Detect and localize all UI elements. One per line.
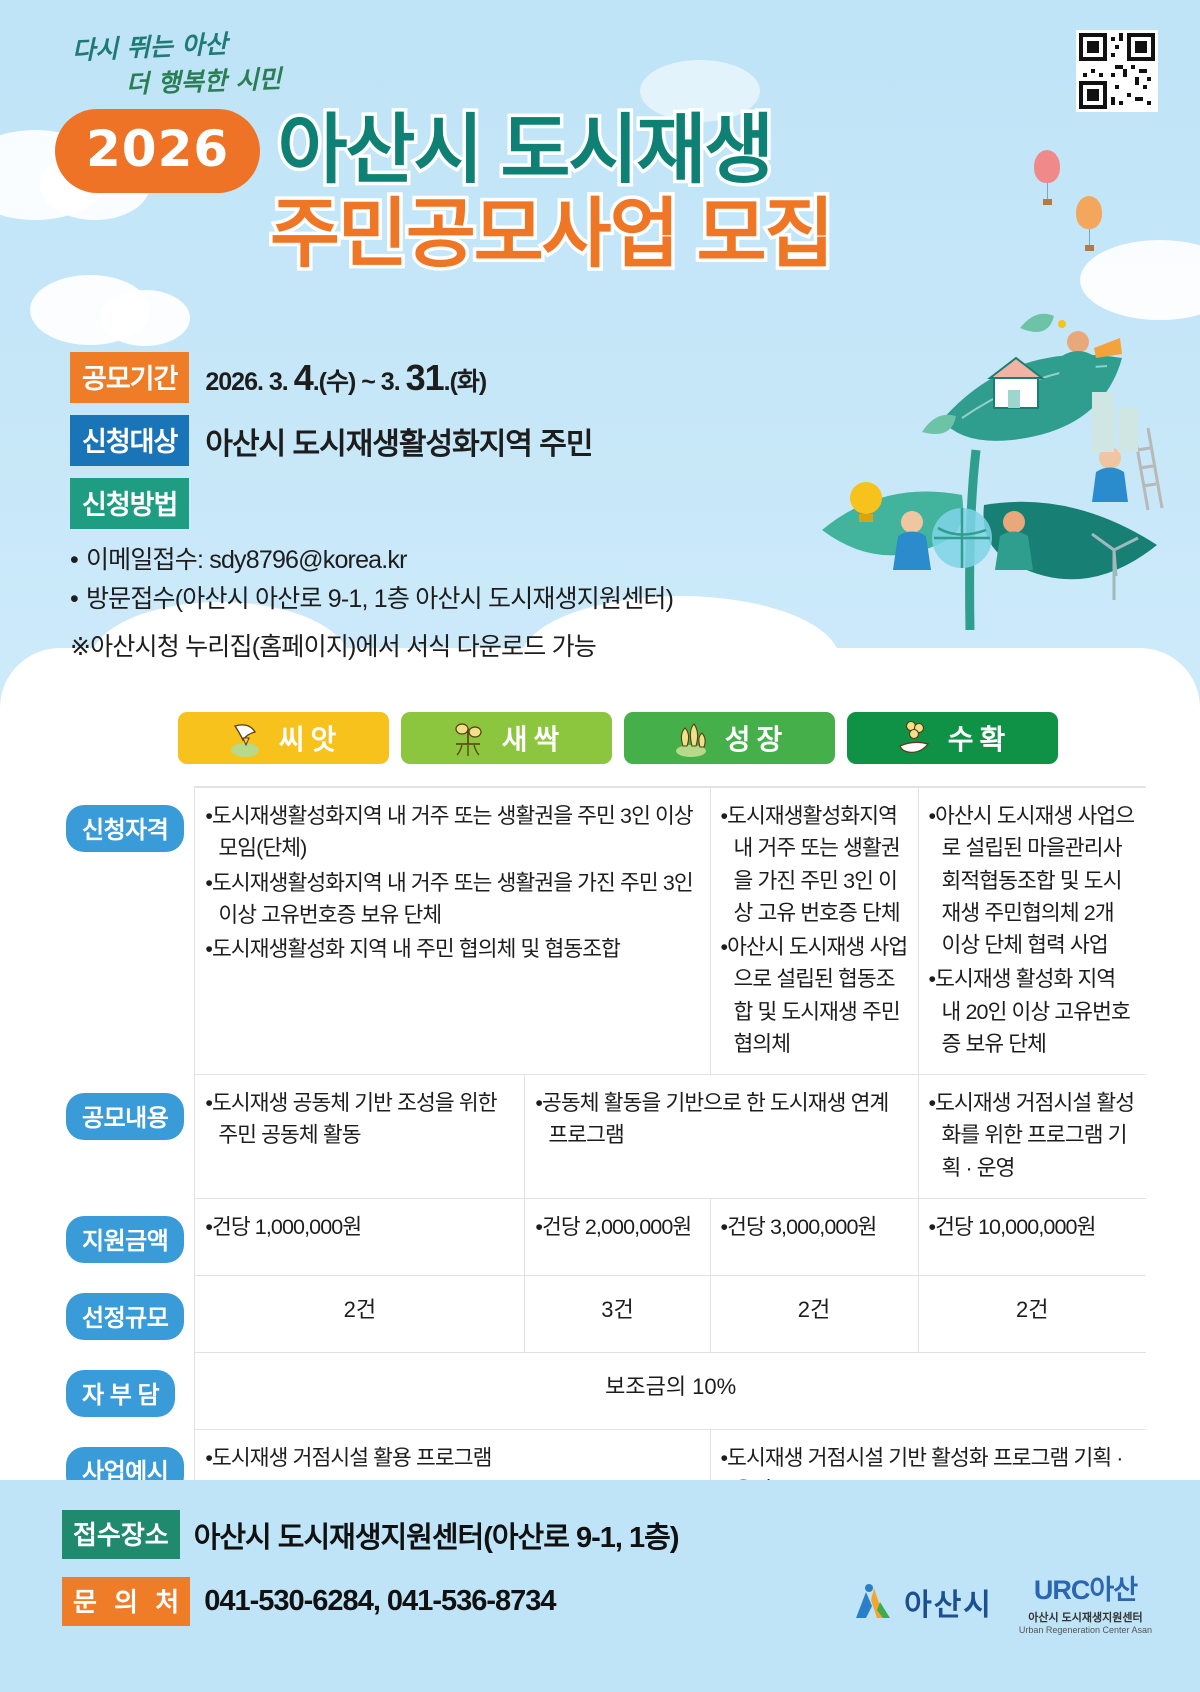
cell-item: 도시재생 거점시설 활성화를 위한 프로그램 기획 · 운영 bbox=[929, 1087, 1137, 1184]
table-cell: 도시재생 거점시설 활성화를 위한 프로그램 기획 · 운영 bbox=[918, 1075, 1146, 1199]
cell-item: 아산시 도시재생 사업으로 설립된 협동조합 및 도시재생 주민협의체 bbox=[721, 931, 908, 1060]
urc-asan-logo: URC아산 아산시 도시재생지원센터 Urban Regeneration Ce… bbox=[1019, 1568, 1152, 1635]
footer: 접수장소 아산시 도시재생지원센터(아산로 9-1, 1층) 문 의 처 041… bbox=[0, 1480, 1200, 1692]
community-illustration bbox=[762, 300, 1182, 670]
asan-logo-text: 아산시 bbox=[904, 1580, 993, 1624]
cell-item: 도시재생활성화지역 내 거주 또는 생활권을 가진 주민 3인 이상 고유 번호… bbox=[721, 800, 908, 929]
info-row-method: 신청방법 bbox=[70, 478, 770, 529]
cell-item: 도시재생 활성화 지역 내 20인 이상 고유번호증 보유 단체 bbox=[929, 963, 1137, 1060]
table-cell: 2건 bbox=[195, 1275, 525, 1352]
table-cell: 도시재생 공동체 기반 조성을 위한 주민 공동체 활동 bbox=[195, 1075, 525, 1199]
footer-logos: 아산시 URC아산 아산시 도시재생지원센터 Urban Regeneratio… bbox=[850, 1568, 1152, 1635]
target-value: 아산시 도시재생활성화지역 주민 bbox=[205, 419, 592, 463]
cell-item: 도시재생활성화지역 내 거주 또는 생활권을 주민 3인 이상 모임(단체) bbox=[205, 800, 699, 865]
table-cell: 공동체 활동을 기반으로 한 도시재생 연계 프로그램 bbox=[525, 1075, 918, 1199]
details-panel: 씨앗 새싹 bbox=[0, 690, 1200, 1480]
row-label: 지원금액 bbox=[66, 1216, 184, 1263]
growth-plant-icon bbox=[671, 718, 711, 758]
table-cell: 건당 2,000,000원 bbox=[525, 1198, 710, 1275]
stage-badge-harvest[interactable]: 수확 bbox=[847, 712, 1058, 764]
cell-item: 건당 2,000,000원 bbox=[535, 1211, 699, 1243]
table-cell: 도시재생활성화지역 내 거주 또는 생활권을 가진 주민 3인 이상 고유 번호… bbox=[710, 787, 918, 1075]
cell-item: 도시재생활성화 지역 내 주민 협의체 및 협동조합 bbox=[205, 933, 699, 965]
row-label-cell: 선정규모 bbox=[56, 1275, 195, 1352]
info-row-target: 신청대상 아산시 도시재생활성화지역 주민 bbox=[70, 415, 770, 466]
cell-item: 공동체 활동을 기반으로 한 도시재생 연계 프로그램 bbox=[535, 1087, 907, 1152]
row-label: 자 부 담 bbox=[66, 1370, 175, 1417]
row-label: 선정규모 bbox=[66, 1293, 184, 1340]
stage-label: 씨앗 bbox=[279, 718, 343, 758]
period-middle: .(수) ~ 3. bbox=[313, 368, 406, 396]
table-cell: 도시재생활성화지역 내 거주 또는 생활권을 주민 3인 이상 모임(단체) 도… bbox=[195, 787, 710, 1075]
period-label: 공모기간 bbox=[70, 352, 189, 403]
table-row: 지원금액 건당 1,000,000원 건당 2,000,000원 건당 3,00… bbox=[56, 1198, 1146, 1275]
seed-hand-icon bbox=[225, 718, 265, 758]
title-line-1: 아산시 도시재생 bbox=[278, 112, 773, 190]
hot-air-balloon-icon bbox=[1076, 196, 1102, 251]
urc-logo-en: Urban Regeneration Center Asan bbox=[1019, 1625, 1152, 1635]
cell-item: 도시재생 거점시설 활용 프로그램 bbox=[205, 1442, 699, 1474]
contact-label: 문 의 처 bbox=[62, 1577, 190, 1626]
poster-title: 2026 아산시 도시재생 주민공모사업 모집 bbox=[60, 112, 1060, 273]
row-label-cell: 공모내용 bbox=[56, 1075, 195, 1199]
period-day-end: 31 bbox=[406, 357, 444, 398]
table-cell: 아산시 도시재생 사업으로 설립된 마을관리사회적협동조합 및 도시재생 주민협… bbox=[918, 787, 1146, 1075]
table-row: 신청자격 도시재생활성화지역 내 거주 또는 생활권을 주민 3인 이상 모임(… bbox=[56, 787, 1146, 1075]
harvest-hand-icon bbox=[894, 718, 934, 758]
method-item-email: 이메일접수: sdy8796@korea.kr bbox=[70, 541, 770, 580]
poster: 다시 뛰는 아산 더 행복한 시민 bbox=[0, 0, 1200, 1692]
table-row: 공모내용 도시재생 공동체 기반 조성을 위한 주민 공동체 활동 공동체 활동… bbox=[56, 1075, 1146, 1199]
footer-row-place: 접수장소 아산시 도시재생지원센터(아산로 9-1, 1층) bbox=[62, 1480, 1200, 1559]
row-label-cell: 신청자격 bbox=[56, 787, 195, 1075]
urc-logo-mark: URC아산 bbox=[1019, 1568, 1152, 1607]
qr-code[interactable] bbox=[1076, 30, 1158, 112]
place-value: 아산시 도시재생지원센터(아산로 9-1, 1층) bbox=[194, 1514, 679, 1556]
program-table: 신청자격 도시재생활성화지역 내 거주 또는 생활권을 주민 3인 이상 모임(… bbox=[56, 786, 1146, 1588]
info-row-period: 공모기간 2026. 3. 4.(수) ~ 3. 31.(화) bbox=[70, 352, 770, 403]
table-cell: 2건 bbox=[918, 1275, 1146, 1352]
target-label: 신청대상 bbox=[70, 415, 189, 466]
period-prefix: 2026. 3. bbox=[205, 368, 293, 396]
contact-value[interactable]: 041-530-6284, 041-536-8734 bbox=[204, 1585, 555, 1618]
stage-label: 새싹 bbox=[502, 718, 566, 758]
period-suffix: .(화) bbox=[444, 368, 487, 396]
cell-item: 도시재생활성화지역 내 거주 또는 생활권을 가진 주민 3인 이상 고유번호증… bbox=[205, 867, 699, 932]
cloud-decoration bbox=[100, 290, 190, 346]
period-day-start: 4 bbox=[294, 357, 313, 398]
title-line-2: 주민공모사업 모집 bbox=[270, 196, 1060, 274]
row-label: 공모내용 bbox=[66, 1093, 184, 1140]
place-label: 접수장소 bbox=[62, 1510, 180, 1559]
urc-logo-kr: 아산시 도시재생지원센터 bbox=[1019, 1609, 1152, 1625]
stage-bar: 씨앗 새싹 bbox=[178, 712, 1058, 764]
stage-label: 수확 bbox=[948, 718, 1012, 758]
table-cell: 보조금의 10% bbox=[195, 1352, 1146, 1429]
table-cell: 2건 bbox=[710, 1275, 918, 1352]
table-cell: 3건 bbox=[525, 1275, 710, 1352]
table-cell: 건당 3,000,000원 bbox=[710, 1198, 918, 1275]
year-badge: 2026 bbox=[60, 114, 255, 188]
stage-label: 성장 bbox=[725, 718, 789, 758]
period-value: 2026. 3. 4.(수) ~ 3. 31.(화) bbox=[205, 357, 486, 399]
cell-item: 건당 1,000,000원 bbox=[205, 1211, 514, 1243]
cell-item: 도시재생 공동체 기반 조성을 위한 주민 공동체 활동 bbox=[205, 1087, 514, 1152]
table-cell: 건당 1,000,000원 bbox=[195, 1198, 525, 1275]
download-note: ※아산시청 누리집(홈페이지)에서 서식 다운로드 가능 bbox=[70, 627, 770, 663]
method-label: 신청방법 bbox=[70, 478, 189, 529]
table-cell: 건당 10,000,000원 bbox=[918, 1198, 1146, 1275]
stage-badge-sprout[interactable]: 새싹 bbox=[401, 712, 612, 764]
asan-logo-mark-icon bbox=[850, 1582, 896, 1622]
cell-item: 아산시 도시재생 사업으로 설립된 마을관리사회적협동조합 및 도시재생 주민협… bbox=[929, 800, 1137, 961]
method-item-visit: 방문접수(아산시 아산로 9-1, 1층 아산시 도시재생지원센터) bbox=[70, 580, 770, 619]
city-slogan: 다시 뛰는 아산 더 행복한 시민 bbox=[72, 26, 402, 98]
asan-city-logo: 아산시 bbox=[850, 1580, 993, 1624]
sprout-icon bbox=[448, 718, 488, 758]
method-list: 이메일접수: sdy8796@korea.kr 방문접수(아산시 아산로 9-1… bbox=[70, 541, 770, 619]
table-row: 자 부 담 보조금의 10% bbox=[56, 1352, 1146, 1429]
stage-badge-seed[interactable]: 씨앗 bbox=[178, 712, 389, 764]
stage-badge-growth[interactable]: 성장 bbox=[624, 712, 835, 764]
cell-item: 건당 3,000,000원 bbox=[721, 1211, 908, 1243]
table-row: 선정규모 2건 3건 2건 2건 bbox=[56, 1275, 1146, 1352]
cell-item: 건당 10,000,000원 bbox=[929, 1211, 1137, 1243]
info-block: 공모기간 2026. 3. 4.(수) ~ 3. 31.(화) 신청대상 아산시… bbox=[70, 352, 770, 663]
row-label-cell: 자 부 담 bbox=[56, 1352, 195, 1429]
row-label: 신청자격 bbox=[66, 805, 184, 852]
row-label-cell: 지원금액 bbox=[56, 1198, 195, 1275]
